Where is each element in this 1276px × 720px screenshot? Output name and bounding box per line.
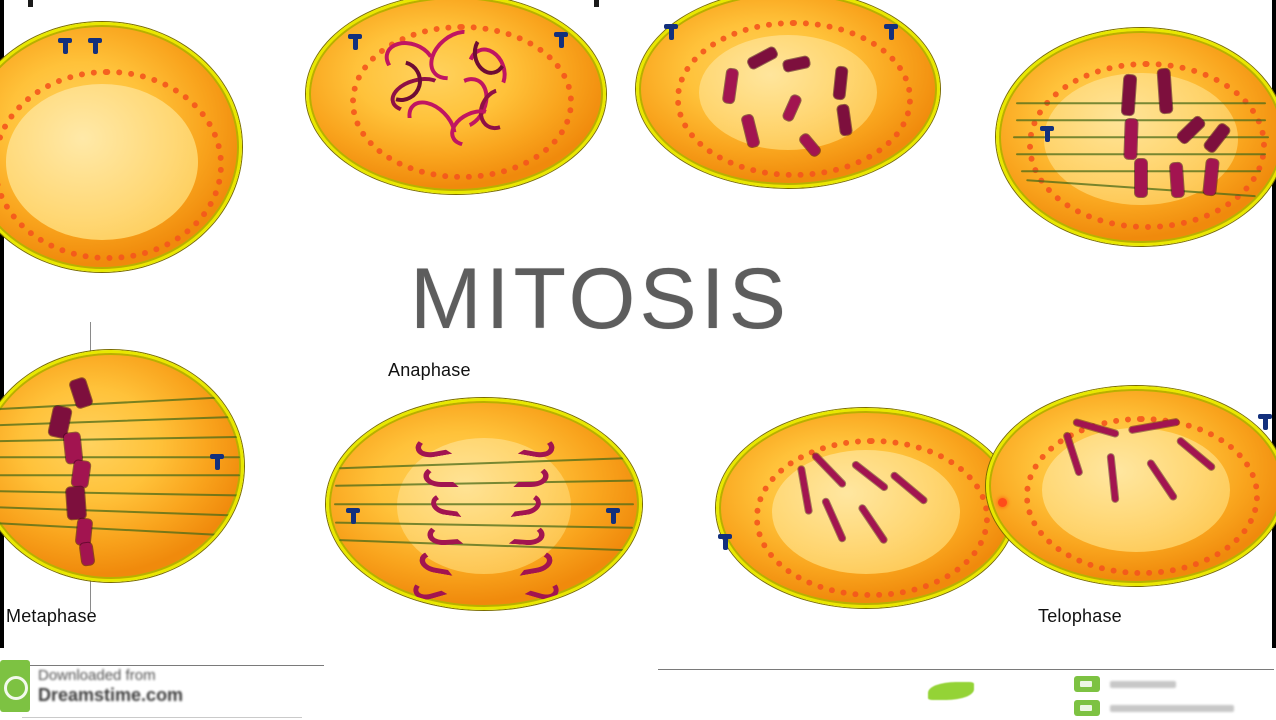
watermark-divider-left (22, 665, 324, 666)
centriole-icon (664, 24, 678, 40)
cropped-label-fragment-interphase (28, 0, 33, 7)
cell-membrane-metaphase (0, 350, 244, 582)
leaf-icon (928, 682, 974, 700)
phase-label-anaphase: Anaphase (388, 360, 471, 381)
centriole-icon (346, 508, 360, 524)
watermark-chip-1 (1074, 676, 1100, 692)
watermark-line-2: Dreamstime.com (38, 685, 183, 706)
centriole-icon (884, 24, 898, 40)
cell-anaphase (326, 398, 642, 610)
watermark-right (636, 648, 1276, 720)
centriole-icon (1040, 126, 1054, 142)
spindle-apparatus (0, 353, 241, 579)
watermark-chip-2 (1074, 700, 1100, 716)
watermark-divider-right (658, 669, 1274, 670)
cell-membrane-anaphase (326, 398, 642, 610)
cell-spindle-formation (996, 28, 1276, 246)
cell-metaphase (0, 350, 244, 582)
centriole-icon (58, 38, 72, 54)
daughter-cell-right (986, 386, 1276, 586)
centriole-icon (554, 32, 568, 48)
watermark-right-text-1 (1110, 681, 1176, 688)
spindle-apparatus (329, 401, 639, 607)
cell-membrane-interphase (0, 22, 242, 272)
centriole-icon (210, 454, 224, 470)
watermark-line-1: Downloaded from (38, 667, 156, 684)
phase-label-telophase: Telophase (1038, 606, 1122, 627)
mitosis-diagram: MITOSIS Anaphase (0, 0, 1276, 720)
centriole-icon (1258, 414, 1272, 430)
cell-membrane-daughter-left (716, 408, 1016, 608)
cell-prometaphase (636, 0, 940, 188)
page-title: MITOSIS (410, 256, 790, 342)
centriole-icon (348, 34, 362, 50)
cleavage-furrow-midbody (998, 498, 1007, 507)
cell-telophase (716, 386, 1276, 616)
nucleus-interphase (6, 84, 198, 240)
cell-membrane-prophase (306, 0, 606, 194)
centriole-icon (606, 508, 620, 524)
cell-prophase (306, 0, 606, 194)
dreamstime-logo (0, 660, 30, 712)
watermark-divider-left-lower (22, 717, 302, 718)
chromatin-tangle (374, 32, 539, 160)
cell-membrane-spindle-formation (996, 28, 1276, 246)
watermark-right-text-2 (1110, 705, 1234, 712)
cell-membrane-daughter-right (986, 386, 1276, 586)
centriole-icon (88, 38, 102, 54)
watermark-left: Downloaded from Dreamstime.com (0, 648, 392, 720)
centriole-icon (718, 534, 732, 550)
daughter-cell-left (716, 408, 1016, 608)
watermark-footer: Downloaded from Dreamstime.com (0, 648, 1276, 720)
cell-interphase (0, 22, 242, 272)
phase-label-metaphase: Metaphase (6, 606, 97, 627)
